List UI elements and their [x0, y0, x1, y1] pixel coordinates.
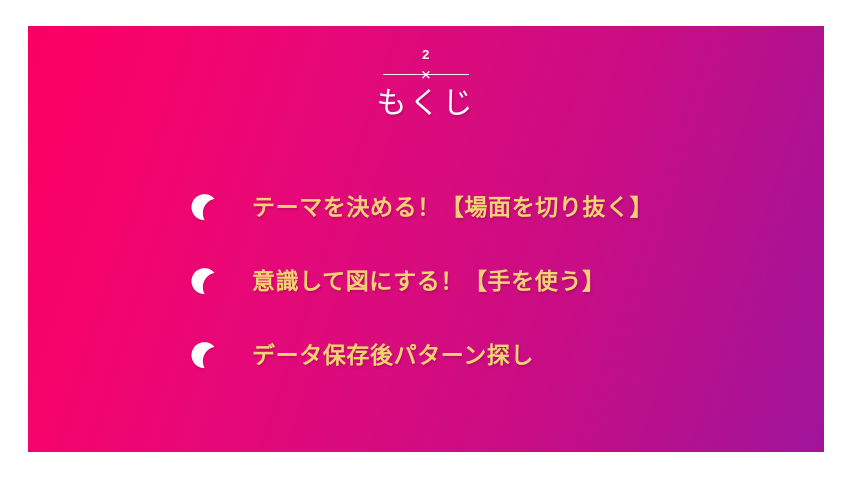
- list-item[interactable]: テーマを決める！【場面を切り抜く】: [186, 182, 786, 232]
- divider-cross-icon: ✕: [421, 69, 432, 82]
- list-item[interactable]: 意識して図にする！【手を使う】: [186, 256, 786, 306]
- crescent-moon-star-icon: [186, 338, 220, 372]
- crescent-moon-star-icon: [186, 190, 220, 224]
- list-item[interactable]: データ保存後パターン探し: [186, 330, 786, 380]
- page-title: もくじ: [28, 86, 824, 122]
- title-divider: ✕: [383, 68, 469, 82]
- presentation-slide: 2 ✕ もくじ テーマを決める！【場面を切り抜く】 意: [28, 26, 824, 452]
- crescent-moon-star-icon: [186, 264, 220, 298]
- agenda-list: テーマを決める！【場面を切り抜く】 意識して図にする！【手を使う】 データ保存後…: [186, 182, 786, 404]
- list-item-label: テーマを決める！【場面を切り抜く】: [252, 193, 786, 222]
- page-number: 2: [28, 48, 824, 61]
- list-item-label: 意識して図にする！【手を使う】: [252, 267, 786, 296]
- slide-header: 2 ✕ もくじ: [28, 26, 824, 122]
- list-item-label: データ保存後パターン探し: [252, 341, 786, 370]
